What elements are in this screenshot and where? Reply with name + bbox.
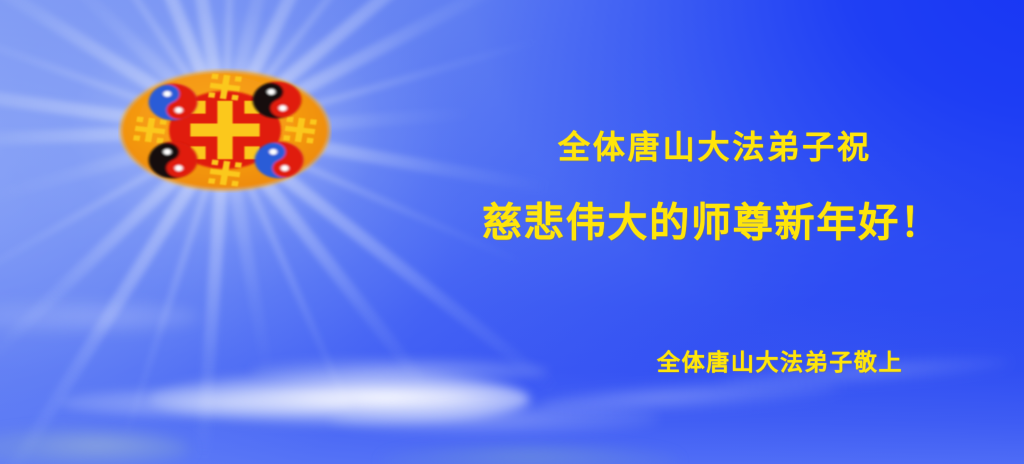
signature-text: 全体唐山大法弟子敬上 — [657, 343, 903, 377]
banner-image: 全体唐山大法弟子祝 慈悲伟大的师尊新年好！ 全体唐山大法弟子敬上 — [0, 0, 1024, 464]
greeting-line-1: 全体唐山大法弟子祝 — [558, 122, 872, 168]
emblem-center-symbol — [190, 101, 259, 159]
greeting-line-2: 慈悲伟大的师尊新年好！ — [482, 190, 942, 248]
falun-emblem — [118, 68, 332, 193]
